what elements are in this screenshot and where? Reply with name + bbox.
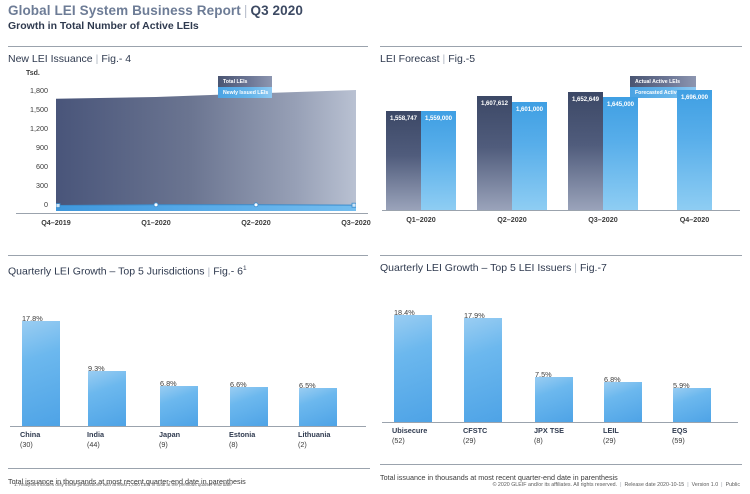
fig5-value-forecast-q2-2020: 1,601,000	[512, 106, 547, 113]
fig5-bar-forecast-q3-2020[interactable]: 1,645,000	[603, 97, 638, 210]
version-label: Version 1.0	[692, 482, 719, 488]
fig4-ytick-1800: 1,800	[14, 86, 48, 95]
fig5-bar-actual-q3-2020[interactable]: 1,652,649	[568, 92, 603, 210]
fig7-value-jpx-tse: 7.5%	[535, 370, 552, 379]
report-page: Global LEI System Business Report|Q3 202…	[0, 0, 750, 494]
fig6-sub-china: (30)	[20, 440, 33, 449]
classification-label: Public	[726, 482, 740, 488]
fig4-ytick-1200: 1,200	[14, 124, 48, 133]
fig7-bar-leil[interactable]	[604, 382, 642, 422]
fig6-cat-japan: Japan	[159, 430, 180, 439]
fig5-bar-forecast-q1-2020[interactable]: 1,559,000	[421, 111, 456, 210]
fig7-title: Quarterly LEI Growth – Top 5 LEI Issuers	[380, 262, 571, 274]
fig4-ytick-900: 900	[14, 143, 48, 152]
fig7-bar-jpx-tse[interactable]	[535, 377, 573, 422]
panel-top-5-lei-issuers: Quarterly LEI Growth – Top 5 LEI Issuers…	[380, 255, 742, 446]
fig7-note-divider	[380, 464, 742, 465]
fig6-bar-china[interactable]	[22, 321, 60, 426]
fig7-value-cfstc: 17.9%	[464, 311, 485, 320]
panel-divider	[8, 255, 368, 256]
panel-title-fig6: Quarterly LEI Growth – Top 5 Jurisdictio…	[8, 262, 368, 279]
page-copyright: © 2020 GLEIF and/or its affiliates. All …	[493, 482, 740, 488]
fig6-sub-lithuania: (2)	[298, 440, 307, 449]
fig6-title-separator: |	[207, 266, 210, 278]
fig7-title-separator: |	[574, 262, 577, 274]
fig6-sub-india: (44)	[87, 440, 100, 449]
fig7-figure-number: Fig.-7	[580, 262, 607, 274]
fig4-legend: Total LEIs Newly Issued LEIs	[218, 76, 272, 98]
fig5-title: LEI Forecast	[380, 53, 440, 65]
panel-divider	[8, 46, 368, 47]
chart-fig4: Tsd. 1,800 1,500 1,200 900 600 300 0	[8, 70, 368, 230]
fig6-bar-india[interactable]	[88, 371, 126, 426]
fig4-area-new	[56, 205, 356, 211]
fig4-title-separator: |	[96, 53, 99, 65]
fig6-sub-estonia: (8)	[229, 440, 238, 449]
fig7-cat-jpx-tse: JPX TSE	[534, 426, 564, 435]
panel-title-fig4: New LEI Issuance|Fig.- 4	[8, 53, 368, 66]
fig6-bar-japan[interactable]	[160, 386, 198, 426]
fig5-x-axis	[382, 210, 740, 211]
fig7-value-leil: 6.8%	[604, 375, 621, 384]
fig4-figure-number: Fig.- 4	[101, 53, 131, 65]
fig7-note: Total issuance in thousands at most rece…	[380, 473, 618, 482]
fig5-xtick-3: Q4–2020	[662, 215, 727, 224]
fig5-figure-number: Fig.-5	[448, 53, 475, 65]
fig6-bar-lithuania[interactable]	[299, 388, 337, 426]
fig6-cat-china: China	[20, 430, 40, 439]
report-name: Global LEI System Business Report	[8, 3, 241, 18]
fig7-bar-eqs[interactable]	[673, 388, 711, 422]
report-header: Global LEI System Business Report|Q3 202…	[8, 3, 742, 33]
copyright-text: © 2020 GLEIF and/or its affiliates. All …	[493, 482, 618, 488]
fig4-xtick-3: Q3–2020	[326, 218, 386, 227]
fig6-footnote-marker: 1	[243, 265, 247, 272]
fig5-bar-forecast-q4-2020[interactable]: 1,696,000	[677, 90, 712, 210]
footer-separator-1: |	[620, 482, 621, 488]
fig7-cat-ubisecure: Ubisecure	[392, 426, 427, 435]
fig5-value-actual-q2-2020: 1,607,612	[477, 100, 512, 107]
fig4-marker-q1-2020	[154, 203, 158, 207]
fig7-x-axis	[382, 422, 738, 423]
fig5-xtick-1: Q2–2020	[477, 215, 547, 224]
fig7-value-eqs: 5.9%	[673, 381, 690, 390]
title-separator: |	[244, 3, 248, 18]
fig4-xtick-1: Q1–2020	[126, 218, 186, 227]
fig7-sub-eqs: (59)	[672, 436, 685, 445]
fig7-sub-cfstc: (29)	[463, 436, 476, 445]
fig7-sub-leil: (29)	[603, 436, 616, 445]
panel-top-5-jurisdictions: Quarterly LEI Growth – Top 5 Jurisdictio…	[8, 255, 368, 450]
fig7-sub-jpx-tse: (8)	[534, 436, 543, 445]
fig5-bar-actual-q1-2020[interactable]: 1,558,747	[386, 111, 421, 210]
fig5-bar-actual-q2-2020[interactable]: 1,607,612	[477, 96, 512, 210]
page-title: Global LEI System Business Report|Q3 202…	[8, 3, 742, 18]
chart-fig6: 17.8% 9.3% 6.8% 6.6% 6.5% China India Ja…	[8, 285, 370, 450]
fig6-bar-estonia[interactable]	[230, 387, 268, 426]
fig6-cat-estonia: Estonia	[229, 430, 255, 439]
fig4-xtick-0: Q4–2019	[26, 218, 86, 227]
fig4-ytick-300: 300	[14, 181, 48, 190]
fig6-figure-number: Fig.- 6	[213, 266, 243, 278]
fig6-value-india: 9.3%	[88, 364, 105, 373]
fig4-ytick-0: 0	[14, 200, 48, 209]
fig5-title-separator: |	[443, 53, 446, 65]
page-footnote: 1. Analysis includes only those jurisdic…	[14, 482, 232, 487]
fig6-value-china: 17.8%	[22, 314, 43, 323]
panel-divider	[380, 46, 742, 47]
fig6-cat-india: India	[87, 430, 104, 439]
fig6-title: Quarterly LEI Growth – Top 5 Jurisdictio…	[8, 266, 204, 278]
release-date: Release date 2020-10-15	[624, 482, 684, 488]
panel-new-lei-issuance: New LEI Issuance|Fig.- 4 Tsd. 1,800 1,50…	[8, 46, 368, 230]
fig7-bar-ubisecure[interactable]	[394, 315, 432, 422]
footer-separator-3: |	[721, 482, 722, 488]
fig4-title: New LEI Issuance	[8, 53, 93, 65]
report-quarter: Q3 2020	[250, 3, 303, 18]
fig6-value-japan: 6.8%	[160, 379, 177, 388]
fig4-ytick-1500: 1,500	[14, 105, 48, 114]
fig5-bar-forecast-q2-2020[interactable]: 1,601,000	[512, 102, 547, 210]
fig4-area-total	[56, 90, 356, 209]
fig4-marker-q4-2019	[56, 204, 60, 208]
fig7-cat-eqs: EQS	[672, 426, 687, 435]
fig5-xtick-0: Q1–2020	[386, 215, 456, 224]
fig4-xtick-2: Q2–2020	[226, 218, 286, 227]
fig5-value-forecast-q1-2020: 1,559,000	[421, 115, 456, 122]
fig7-sub-ubisecure: (52)	[392, 436, 405, 445]
fig5-value-forecast-q4-2020: 1,696,000	[677, 94, 712, 101]
fig7-cat-leil: LEIL	[603, 426, 619, 435]
footer-separator-2: |	[687, 482, 688, 488]
panel-title-fig5: LEI Forecast|Fig.-5	[380, 53, 742, 66]
page-subtitle: Growth in Total Number of Active LEIs	[8, 20, 742, 33]
fig5-xtick-2: Q3–2020	[568, 215, 638, 224]
fig5-legend-item-actual[interactable]: Actual Active LEIs	[630, 76, 696, 87]
fig4-y-unit: Tsd.	[26, 70, 40, 77]
fig6-sub-japan: (9)	[159, 440, 168, 449]
fig6-cat-lithuania: Lithuania	[298, 430, 330, 439]
fig4-ytick-600: 600	[14, 162, 48, 171]
fig5-value-actual-q1-2020: 1,558,747	[386, 115, 421, 122]
fig4-legend-item-total[interactable]: Total LEIs	[218, 76, 272, 87]
panel-title-fig7: Quarterly LEI Growth – Top 5 LEI Issuers…	[380, 262, 742, 275]
fig4-legend-item-new-issued[interactable]: Newly Issued LEIs	[218, 87, 272, 98]
fig6-note-divider	[8, 468, 370, 469]
fig4-x-axis	[16, 213, 368, 214]
fig5-value-actual-q3-2020: 1,652,649	[568, 96, 603, 103]
panel-divider	[380, 255, 742, 256]
fig7-cat-cfstc: CFSTC	[463, 426, 487, 435]
fig7-value-ubisecure: 18.4%	[394, 308, 415, 317]
chart-fig5: Actual Active LEIs Forecasted Active LEI…	[380, 70, 742, 230]
fig6-value-lithuania: 6.5%	[299, 381, 316, 390]
fig6-x-axis	[10, 426, 366, 427]
fig7-bar-cfstc[interactable]	[464, 318, 502, 422]
fig6-value-estonia: 6.6%	[230, 380, 247, 389]
chart-fig7: 18.4% 17.9% 7.5% 6.8% 5.9% Ubisecure CFS…	[380, 281, 742, 446]
fig4-plot-area	[56, 78, 356, 213]
fig5-value-forecast-q3-2020: 1,645,000	[603, 101, 638, 108]
fig4-marker-q3-2020	[352, 203, 356, 207]
fig4-marker-q2-2020	[254, 203, 258, 207]
fig4-area-svg	[56, 78, 356, 213]
panel-lei-forecast: LEI Forecast|Fig.-5 Actual Active LEIs F…	[380, 46, 742, 230]
